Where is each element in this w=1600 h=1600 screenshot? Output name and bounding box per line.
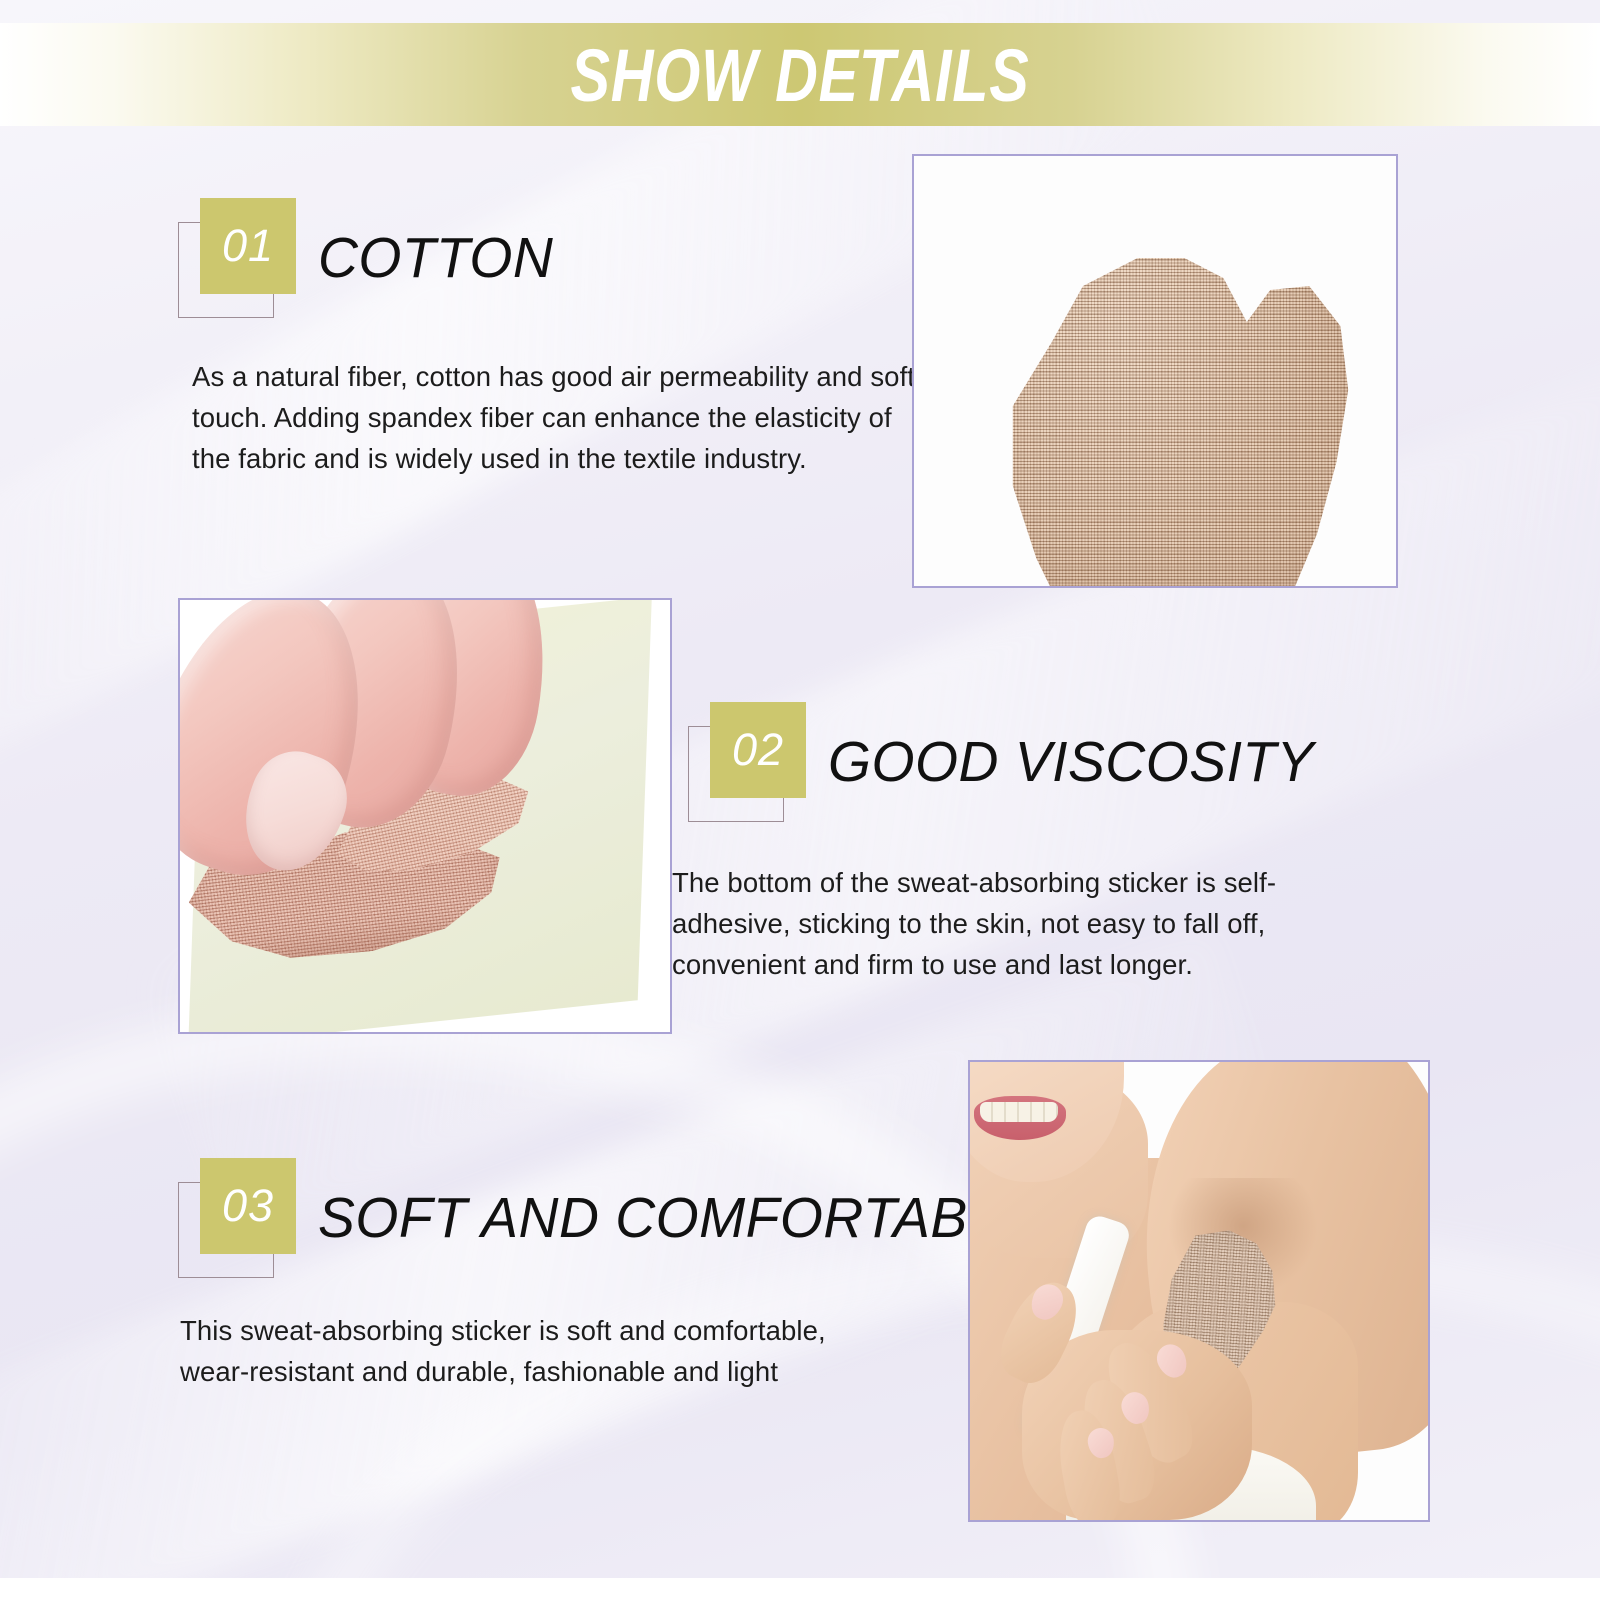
section-number-badge: 01	[178, 198, 296, 318]
section-number-badge: 02	[688, 702, 806, 822]
section-header: 03 SOFT AND COMFORTABLE	[178, 1158, 1059, 1278]
product-photo-adhesive	[180, 600, 670, 1032]
section-title: COTTON	[318, 225, 553, 291]
section-body-text: This sweat-absorbing sticker is soft and…	[180, 1310, 900, 1392]
badge-number: 03	[200, 1158, 296, 1254]
section-header: 01 COTTON	[178, 198, 932, 318]
product-photo-underarm-frame	[968, 1060, 1430, 1522]
product-photo-cotton-frame	[912, 154, 1398, 588]
product-photo-adhesive-frame	[178, 598, 672, 1034]
badge-number: 02	[710, 702, 806, 798]
model-teeth	[980, 1102, 1058, 1122]
header-banner: SHOW DETAILS	[0, 23, 1600, 126]
section-header: 02 GOOD VISCOSITY	[688, 702, 1392, 822]
section-number-badge: 03	[178, 1158, 296, 1278]
cotton-sweat-pad	[966, 222, 1356, 588]
section-soft-and-comfortable: 03 SOFT AND COMFORTABLE This sweat-absor…	[178, 1158, 1059, 1392]
section-title: SOFT AND COMFORTABLE	[318, 1185, 1036, 1251]
badge-number: 01	[200, 198, 296, 294]
product-detail-page: SHOW DETAILS 01 COTTON As a natural fibe…	[0, 0, 1600, 1600]
page-title: SHOW DETAILS	[160, 41, 1440, 111]
section-body-text: The bottom of the sweat-absorbing sticke…	[672, 862, 1392, 985]
product-photo-underarm	[970, 1062, 1428, 1520]
section-title: GOOD VISCOSITY	[828, 729, 1314, 795]
section-cotton: 01 COTTON As a natural fiber, cotton has…	[178, 198, 932, 479]
product-photo-cotton	[914, 156, 1396, 586]
section-good-viscosity: 02 GOOD VISCOSITY The bottom of the swea…	[688, 702, 1392, 985]
section-body-text: As a natural fiber, cotton has good air …	[192, 356, 932, 479]
bottom-white-strip	[0, 1578, 1600, 1600]
